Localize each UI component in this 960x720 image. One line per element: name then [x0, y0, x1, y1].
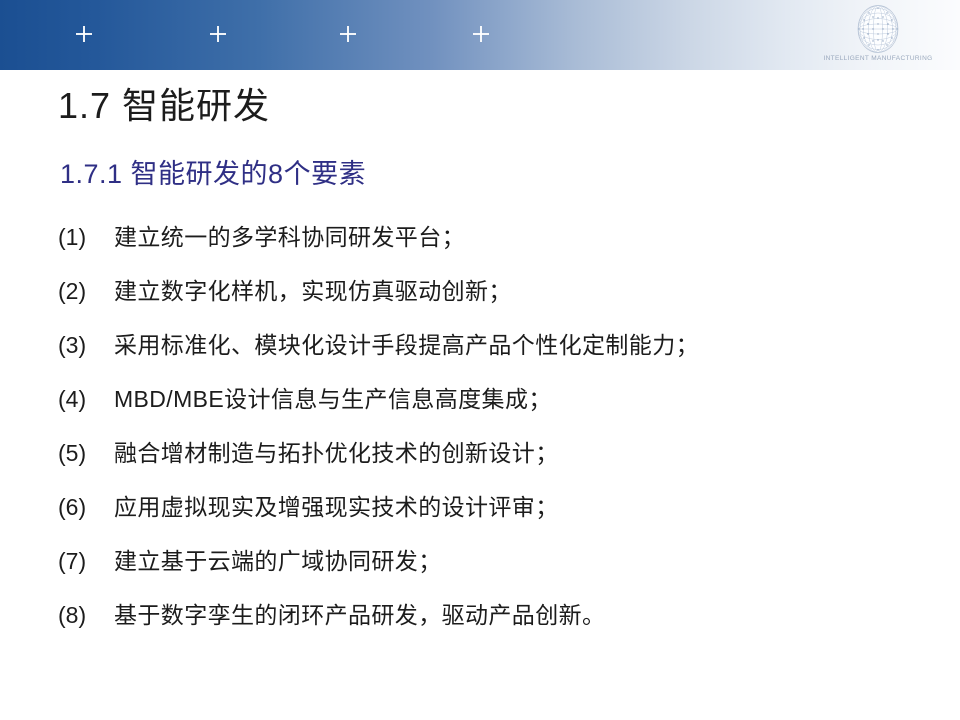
- list-item-text: 应用虚拟现实及增强现实技术的设计评审；: [114, 490, 559, 524]
- logo-caption: INTELLIGENT MANUFACTURING: [818, 55, 938, 63]
- list-item: (3) 采用标准化、模块化设计手段提高产品个性化定制能力；: [58, 328, 918, 382]
- plus-icon-4: [473, 26, 489, 42]
- list-item-index: (3): [58, 328, 114, 362]
- list-item-text: 建立数字化样机，实现仿真驱动创新；: [114, 274, 512, 308]
- list-item-text: 基于数字孪生的闭环产品研发，驱动产品创新。: [114, 598, 605, 632]
- list-item-index: (1): [58, 220, 114, 254]
- list-item-text: 建立统一的多学科协同研发平台；: [114, 220, 465, 254]
- list-item-index: (8): [58, 598, 114, 632]
- list-item: (8) 基于数字孪生的闭环产品研发，驱动产品创新。: [58, 598, 918, 652]
- plus-icon-1: [76, 26, 92, 42]
- plus-icon-2: [210, 26, 226, 42]
- list-item-text: 采用标准化、模块化设计手段提高产品个性化定制能力；: [114, 328, 699, 362]
- list-item-index: (6): [58, 490, 114, 524]
- list-item-index: (4): [58, 382, 114, 416]
- page-title: 1.7 智能研发: [58, 84, 270, 128]
- page-subtitle: 1.7.1 智能研发的8个要素: [60, 157, 366, 191]
- slide-canvas: INTELLIGENT MANUFACTURING 1.7 智能研发 1.7.1…: [0, 0, 960, 720]
- list-item-index: (2): [58, 274, 114, 308]
- list-item-index: (5): [58, 436, 114, 470]
- list-item-index: (7): [58, 544, 114, 578]
- list-item: (7) 建立基于云端的广域协同研发；: [58, 544, 918, 598]
- list-item-text: 融合增材制造与拓扑优化技术的创新设计；: [114, 436, 559, 470]
- list-item-text: MBD/MBE设计信息与生产信息高度集成；: [114, 382, 552, 416]
- elements-list: (1) 建立统一的多学科协同研发平台； (2) 建立数字化样机，实现仿真驱动创新…: [58, 220, 918, 652]
- list-item-text: 建立基于云端的广域协同研发；: [114, 544, 442, 578]
- plus-icon-3: [340, 26, 356, 42]
- logo-block: INTELLIGENT MANUFACTURING: [818, 4, 938, 68]
- list-item: (1) 建立统一的多学科协同研发平台；: [58, 220, 918, 274]
- list-item: (5) 融合增材制造与拓扑优化技术的创新设计；: [58, 436, 918, 490]
- sphere-mesh-logo-icon: [855, 4, 901, 54]
- header-band: INTELLIGENT MANUFACTURING: [0, 0, 960, 70]
- list-item: (2) 建立数字化样机，实现仿真驱动创新；: [58, 274, 918, 328]
- list-item: (4) MBD/MBE设计信息与生产信息高度集成；: [58, 382, 918, 436]
- list-item: (6) 应用虚拟现实及增强现实技术的设计评审；: [58, 490, 918, 544]
